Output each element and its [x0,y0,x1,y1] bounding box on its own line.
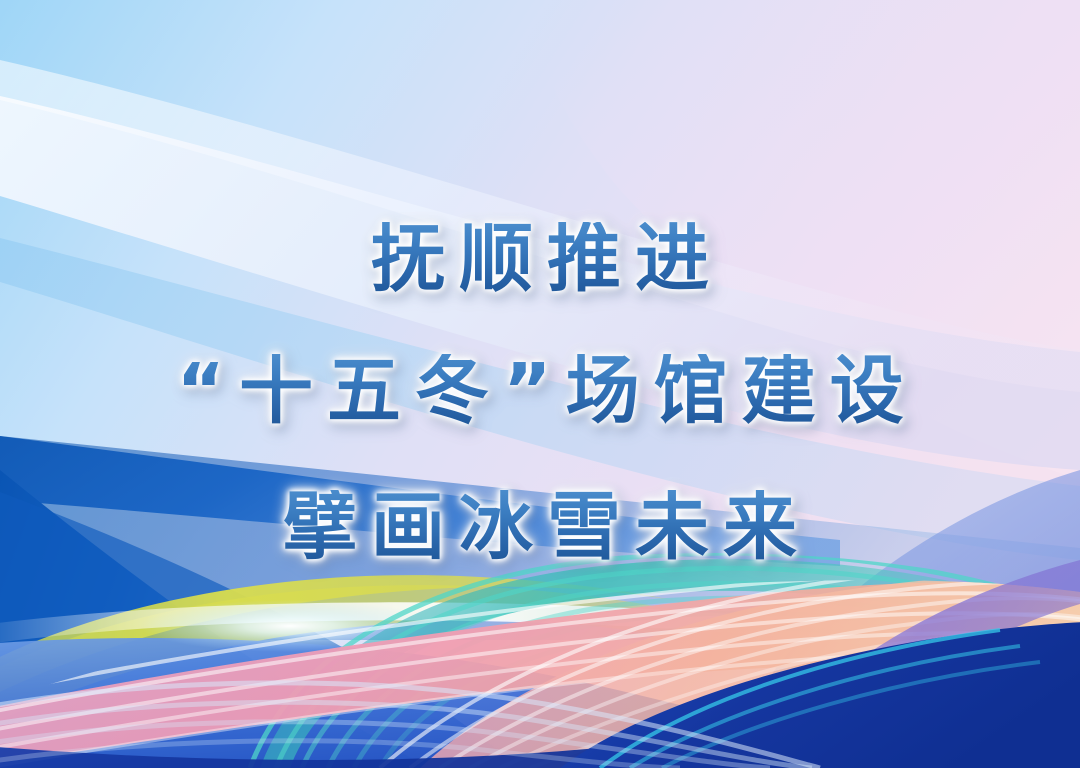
background-artwork [0,0,1080,768]
poster-canvas: 抚顺推进 “十五冬”场馆建设 擘画冰雪未来 [0,0,1080,768]
